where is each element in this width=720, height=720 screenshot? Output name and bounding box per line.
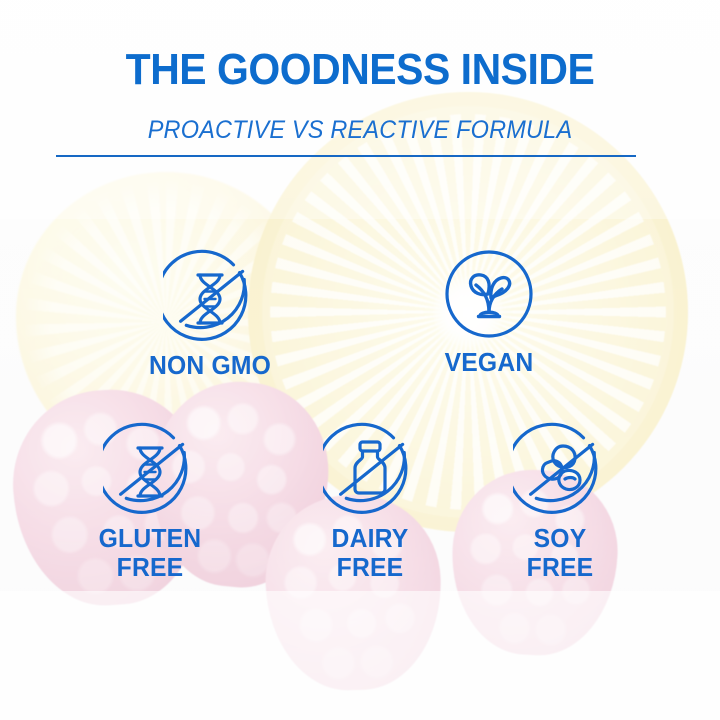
- badge-label-line: DAIRY: [332, 523, 409, 553]
- badge-label: DAIRY FREE: [285, 524, 456, 582]
- badge-label-line: FREE: [117, 552, 184, 582]
- sprout-icon: [444, 249, 534, 339]
- soybean-no-symbol-icon: [513, 421, 607, 515]
- badge-label: GLUTEN FREE: [65, 524, 236, 582]
- badge-label-line: GLUTEN: [99, 523, 202, 553]
- badge-label-line: SOY: [534, 523, 587, 553]
- page-subtitle: PROACTIVE VS REACTIVE FORMULA: [22, 118, 699, 143]
- badge-vegan: VEGAN: [399, 249, 579, 377]
- goodness-inside-infographic: THE GOODNESS INSIDE PROACTIVE VS REACTIV…: [0, 0, 720, 720]
- badge-label-line: FREE: [337, 552, 404, 582]
- dna-no-symbol-icon: [103, 421, 197, 515]
- header-divider: [56, 155, 636, 157]
- background-wash-bottom: [0, 591, 720, 720]
- background-imagery: [0, 0, 720, 720]
- dna-no-symbol-icon: [163, 248, 257, 342]
- badge-label: VEGAN: [404, 348, 575, 377]
- milk-bottle-no-symbol-icon: [323, 421, 417, 515]
- background-wash-top: [0, 0, 720, 219]
- badge-non-gmo: NON GMO: [120, 248, 300, 380]
- badge-soy-free: SOY FREE: [470, 421, 650, 582]
- badge-label: SOY FREE: [475, 524, 646, 582]
- badge-label: NON GMO: [125, 351, 296, 380]
- badge-dairy-free: DAIRY FREE: [280, 421, 460, 582]
- badge-gluten-free: GLUTEN FREE: [60, 421, 240, 582]
- badge-label-line: FREE: [527, 552, 594, 582]
- page-title: THE GOODNESS INSIDE: [25, 48, 695, 92]
